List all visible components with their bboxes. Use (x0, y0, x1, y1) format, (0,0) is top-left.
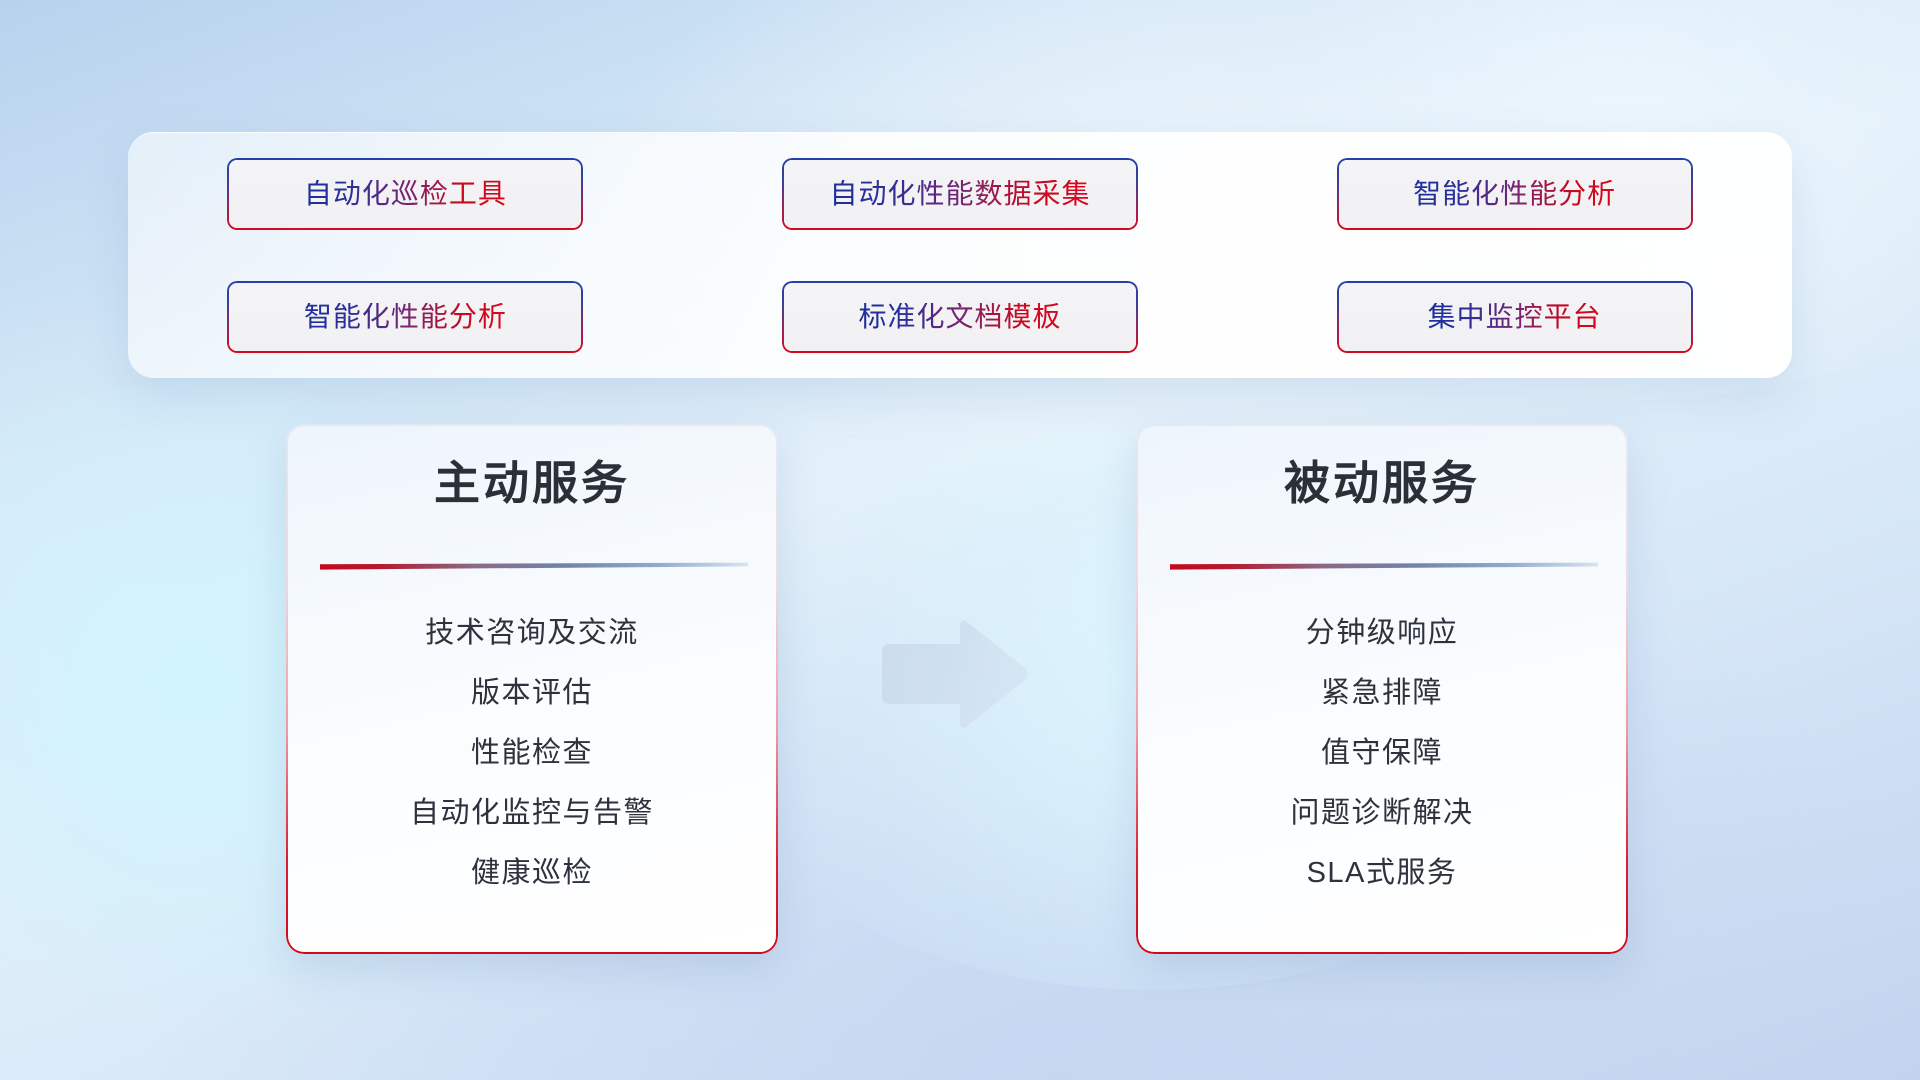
capability-pill-4-surface: 智能化性能分析 (229, 283, 581, 351)
capability-pill-1[interactable]: 自动化巡检工具 (227, 158, 583, 230)
capability-pill-2-label: 自动化性能数据采集 (829, 180, 1090, 208)
list-item: SLA式服务 (1307, 852, 1458, 894)
service-card-reactive-divider (1170, 562, 1598, 570)
capability-pill-6-label: 集中监控平台 (1428, 303, 1602, 331)
service-card-proactive-title: 主动服务 (286, 458, 778, 510)
capability-pill-6[interactable]: 集中监控平台 (1337, 281, 1693, 353)
service-card-proactive-divider (320, 562, 748, 570)
list-item: 紧急排障 (1321, 672, 1443, 714)
capability-pill-5[interactable]: 标准化文档模板 (782, 281, 1138, 353)
arrow-right-icon (874, 614, 1034, 734)
capability-pill-3-label: 智能化性能分析 (1413, 180, 1616, 208)
list-item: 问题诊断解决 (1290, 792, 1473, 834)
service-card-proactive-list: 技术咨询及交流 版本评估 性能检查 自动化监控与告警 健康巡检 (286, 612, 778, 894)
list-item: 分钟级响应 (1306, 612, 1459, 654)
service-card-reactive-list: 分钟级响应 紧急排障 值守保障 问题诊断解决 SLA式服务 (1136, 612, 1628, 894)
service-card-reactive: 被动服务 分钟级响应 紧急排障 值守保障 问题诊断解决 SLA式服务 (1136, 424, 1628, 954)
slide-canvas: 自动化巡检工具 自动化性能数据采集 智能化性能分析 智能化性能分析 标准化文档模… (0, 0, 1920, 1080)
capability-pill-6-surface: 集中监控平台 (1339, 283, 1691, 351)
list-item: 健康巡检 (471, 852, 593, 894)
capability-pill-1-surface: 自动化巡检工具 (229, 160, 581, 228)
capability-pill-4[interactable]: 智能化性能分析 (227, 281, 583, 353)
list-item: 版本评估 (471, 672, 593, 714)
capability-pill-4-label: 智能化性能分析 (304, 303, 507, 331)
capability-pill-5-label: 标准化文档模板 (858, 303, 1061, 331)
capability-pill-2[interactable]: 自动化性能数据采集 (782, 158, 1138, 230)
list-item: 值守保障 (1321, 732, 1443, 774)
capabilities-panel: 自动化巡检工具 自动化性能数据采集 智能化性能分析 智能化性能分析 标准化文档模… (128, 132, 1792, 378)
list-item: 自动化监控与告警 (410, 792, 654, 834)
capability-pill-5-surface: 标准化文档模板 (784, 283, 1136, 351)
service-card-reactive-title: 被动服务 (1136, 458, 1628, 510)
service-card-proactive: 主动服务 技术咨询及交流 版本评估 性能检查 自动化监控与告警 健康巡检 (286, 424, 778, 954)
list-item: 性能检查 (471, 732, 593, 774)
capability-pill-3-surface: 智能化性能分析 (1339, 160, 1691, 228)
list-item: 技术咨询及交流 (425, 612, 639, 654)
capability-pill-2-surface: 自动化性能数据采集 (784, 160, 1136, 228)
capability-pill-3[interactable]: 智能化性能分析 (1337, 158, 1693, 230)
capability-pill-1-label: 自动化巡检工具 (304, 180, 507, 208)
